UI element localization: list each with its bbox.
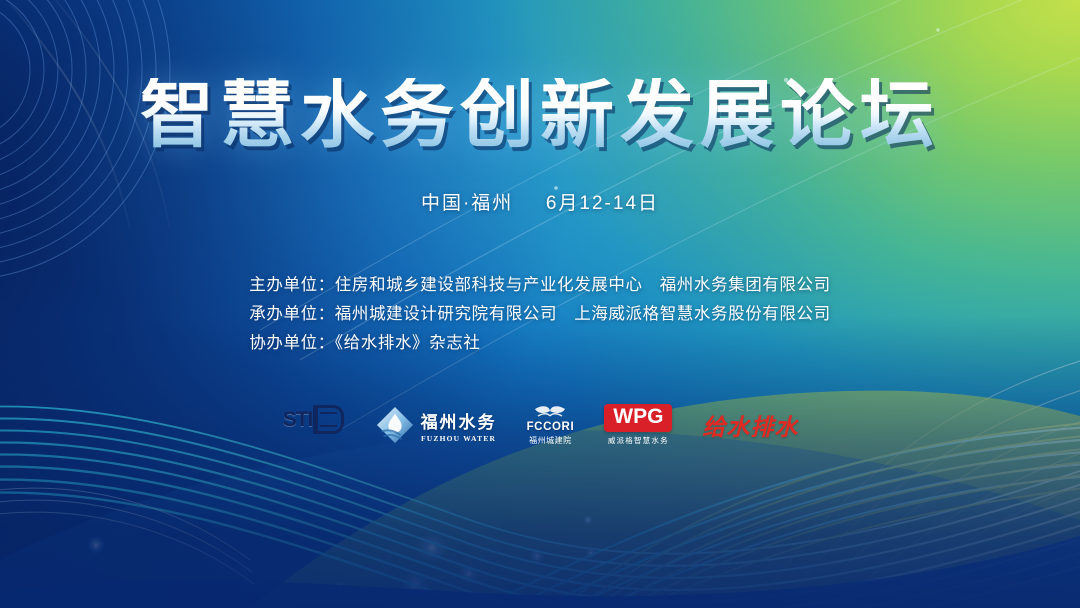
poster-content: 智慧水务创新发展论坛 中国·福州 6月12-14日 主办单位：住房和城乡建设部科…	[0, 0, 1080, 608]
page-title: 智慧水务创新发展论坛	[140, 78, 940, 152]
fccori-leaf-icon	[533, 405, 567, 419]
logo-fccori: FCCORI 福州城建院	[527, 399, 575, 451]
organizer-line-coorganizer: 协办单位：《给水排水》杂志社	[249, 329, 830, 353]
logo-fuzhou-water: 福州水务 FUZHOU WATER	[376, 399, 497, 451]
poster-canvas: 智慧水务创新发展论坛 中国·福州 6月12-14日 主办单位：住房和城乡建设部科…	[0, 0, 1080, 608]
stid-mark: STI	[283, 405, 345, 434]
logo-water-supply-drainage: 给水排水	[702, 399, 798, 451]
fuzhou-water-cn: 福州水务	[421, 408, 497, 433]
sponsor-logo-row: STI 住房和城乡建设部科技与产业化发展中心住房和城乡建设部科技与产业化发展中心	[282, 399, 799, 451]
fuzhou-water-en: FUZHOU WATER	[421, 434, 496, 443]
fccori-cn: 福州城建院	[529, 435, 572, 446]
water-supply-drainage-cn: 给水排水	[702, 408, 798, 442]
organizer-line-host: 主办单位：住房和城乡建设部科技与产业化发展中心 福州水务集团有限公司	[249, 271, 830, 295]
wpg-cn: 威派格智慧水务	[608, 435, 669, 446]
event-location: 中国·福州	[421, 193, 513, 214]
stid-letters: STI	[283, 408, 313, 432]
logo-wpg: WPG 威派格智慧水务	[604, 399, 672, 451]
organizer-line-undertaker: 承办单位：福州城建设计研究院有限公司 上海威派格智慧水务股份有限公司	[249, 300, 830, 324]
stid-subtext: 住房和城乡建设部科技与产业化发展中心住房和城乡建设部科技与产业化发展中心	[282, 437, 346, 445]
fuzhou-water-text: 福州水务 FUZHOU WATER	[421, 408, 497, 443]
wpg-badge: WPG	[604, 404, 672, 431]
event-dates: 6月12-14日	[546, 193, 659, 214]
water-drop-icon	[376, 406, 414, 444]
organizer-list: 主办单位：住房和城乡建设部科技与产业化发展中心 福州水务集团有限公司 承办单位：…	[249, 271, 830, 353]
logo-stid: STI 住房和城乡建设部科技与产业化发展中心住房和城乡建设部科技与产业化发展中心	[282, 399, 346, 451]
event-subtitle: 中国·福州 6月12-14日	[421, 188, 659, 215]
stid-d-icon	[313, 405, 344, 434]
fccori-en: FCCORI	[527, 421, 575, 433]
